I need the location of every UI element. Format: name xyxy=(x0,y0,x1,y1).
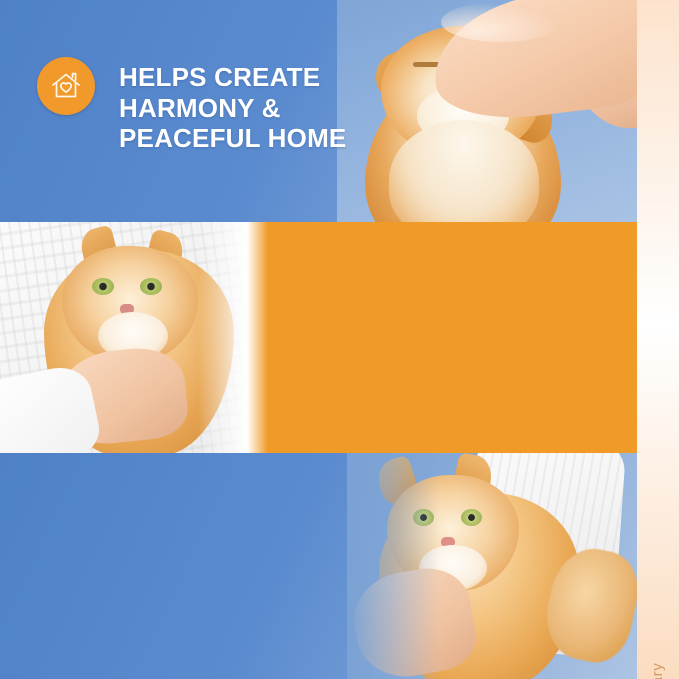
disclaimer-strip: Use as directed Results may vary xyxy=(637,0,679,679)
benefit-panel-two-weeks: 2wks VISIBLY IMPROVE THE CATS BEHAVIOR I… xyxy=(0,453,637,679)
cat-held-in-arms-photo xyxy=(0,222,268,453)
panel-headline: HELPS CREATE HARMONY & PEACEFUL HOME xyxy=(119,62,389,154)
benefit-panels-column: HELPS CREATE HARMONY & PEACEFUL HOME xyxy=(0,0,637,679)
cat-cradled-photo xyxy=(347,453,637,679)
hand-highlight xyxy=(441,2,561,42)
benefit-panel-coverage: 4ft CAT CALMING & COVERS UP TO 700 SQ FT xyxy=(0,222,637,453)
product-benefits-infographic: HELPS CREATE HARMONY & PEACEFUL HOME xyxy=(0,0,679,679)
photo-edge-fade xyxy=(198,222,268,453)
house-heart-icon xyxy=(37,57,95,115)
disclaimer-text: Use as directed Results may vary xyxy=(649,663,666,679)
cat-eye-right xyxy=(140,278,162,295)
photo-edge-fade xyxy=(347,453,439,679)
cat-eye-right xyxy=(461,509,482,526)
cat-eye-left xyxy=(92,278,114,295)
benefit-panel-harmony: HELPS CREATE HARMONY & PEACEFUL HOME xyxy=(0,0,637,222)
